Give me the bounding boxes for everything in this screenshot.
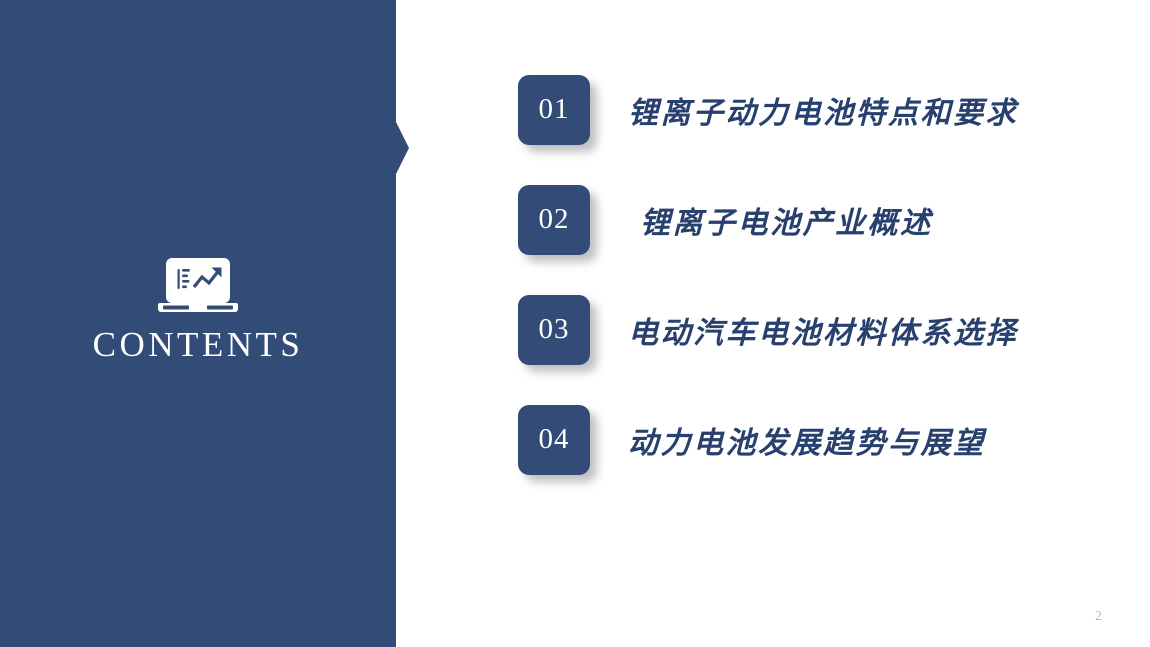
toc-item-label: 电动汽车电池材料体系选择 — [628, 295, 1018, 365]
toc-number-badge: 03 — [518, 295, 590, 365]
page-number: 2 — [1095, 609, 1102, 625]
toc-item-label: 动力电池发展趋势与展望 — [628, 405, 986, 475]
toc-item-label: 锂离子动力电池特点和要求 — [628, 75, 1018, 145]
toc-number-badge: 02 — [518, 185, 590, 255]
slide-canvas: CONTENTS 01 锂离子动力电池特点和要求 02 锂离子电池产业概述 03… — [0, 0, 1150, 647]
toc-item-label: 锂离子电池产业概述 — [640, 185, 933, 255]
toc-number-badge: 04 — [518, 405, 590, 475]
toc-list: 01 锂离子动力电池特点和要求 02 锂离子电池产业概述 03 电动汽车电池材料… — [0, 0, 1150, 647]
toc-number-badge: 01 — [518, 75, 590, 145]
